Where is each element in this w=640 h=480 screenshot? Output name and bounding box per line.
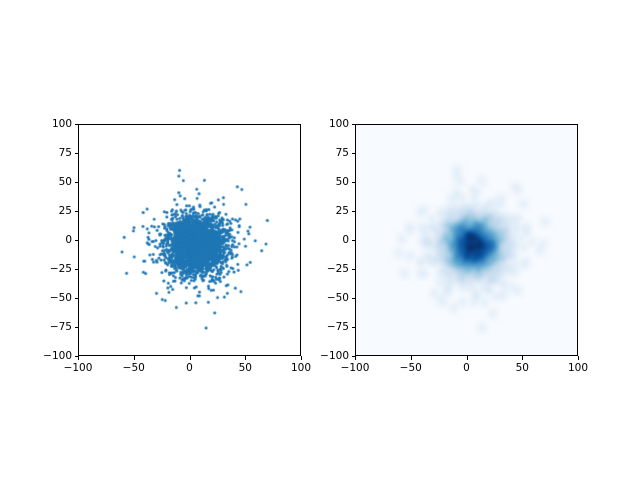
- y-tick-label: −25: [50, 264, 72, 275]
- y-tick-label: 75: [59, 148, 72, 159]
- y-tick-mark: [75, 153, 79, 154]
- matplotlib-figure: −100−75−50−250255075100−100−50050100 −10…: [0, 0, 640, 480]
- y-tick-mark: [352, 298, 356, 299]
- x-tick-label: 100: [568, 363, 588, 374]
- y-tick-label: −50: [50, 293, 72, 304]
- y-tick-label: 50: [336, 177, 349, 188]
- x-tick-mark: [245, 356, 246, 360]
- y-tick-label: 0: [342, 235, 349, 246]
- x-tick-label: 0: [463, 363, 470, 374]
- scatter-plot-canvas: [79, 125, 300, 355]
- x-tick-label: 50: [239, 363, 252, 374]
- y-tick-label: 25: [336, 206, 349, 217]
- y-tick-label: 50: [59, 177, 72, 188]
- x-tick-mark: [355, 356, 356, 360]
- y-tick-label: 25: [59, 206, 72, 217]
- x-tick-mark: [411, 356, 412, 360]
- y-tick-mark: [352, 182, 356, 183]
- y-tick-label: −50: [327, 293, 349, 304]
- y-tick-label: 75: [336, 148, 349, 159]
- y-tick-mark: [75, 298, 79, 299]
- y-tick-mark: [352, 124, 356, 125]
- x-tick-label: 100: [291, 363, 311, 374]
- y-tick-label: 0: [65, 235, 72, 246]
- y-tick-mark: [75, 240, 79, 241]
- x-tick-label: 0: [186, 363, 193, 374]
- y-tick-label: −100: [43, 351, 72, 362]
- y-tick-mark: [75, 124, 79, 125]
- y-tick-label: −75: [50, 322, 72, 333]
- density-heatmap-axes: [355, 124, 578, 356]
- y-tick-mark: [75, 327, 79, 328]
- y-tick-mark: [75, 182, 79, 183]
- y-tick-label: −25: [327, 264, 349, 275]
- x-tick-mark: [467, 356, 468, 360]
- y-tick-label: −100: [320, 351, 349, 362]
- x-tick-mark: [301, 356, 302, 360]
- x-tick-label: −100: [64, 363, 93, 374]
- x-tick-mark: [578, 356, 579, 360]
- x-tick-label: −100: [341, 363, 370, 374]
- y-tick-mark: [352, 211, 356, 212]
- y-tick-mark: [75, 269, 79, 270]
- y-tick-label: 100: [329, 119, 349, 130]
- y-tick-mark: [352, 240, 356, 241]
- x-tick-mark: [78, 356, 79, 360]
- y-tick-mark: [75, 211, 79, 212]
- y-tick-label: 100: [52, 119, 72, 130]
- x-tick-mark: [190, 356, 191, 360]
- x-tick-label: 50: [516, 363, 529, 374]
- y-tick-mark: [352, 153, 356, 154]
- y-tick-label: −75: [327, 322, 349, 333]
- x-tick-mark: [134, 356, 135, 360]
- x-tick-mark: [522, 356, 523, 360]
- x-tick-label: −50: [123, 363, 145, 374]
- density-heatmap-canvas: [356, 125, 577, 355]
- x-tick-label: −50: [400, 363, 422, 374]
- y-tick-mark: [352, 269, 356, 270]
- scatter-axes: [78, 124, 301, 356]
- y-tick-mark: [352, 327, 356, 328]
